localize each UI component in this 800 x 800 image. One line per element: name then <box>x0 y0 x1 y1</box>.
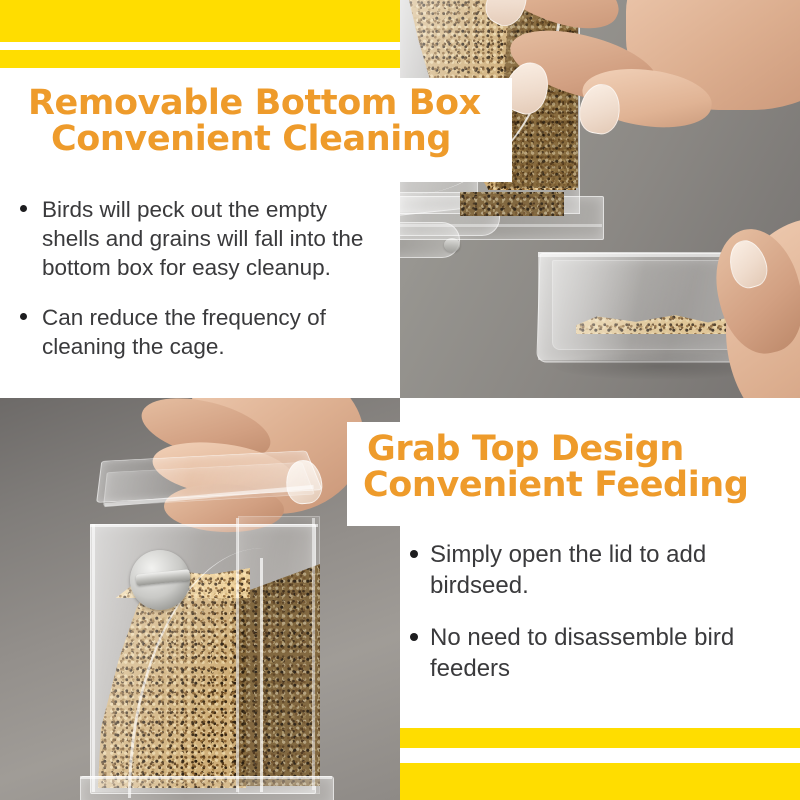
feeder-base-lip <box>400 224 602 227</box>
bottom-right-headline-box: Grab Top Design Convenient Feeding <box>347 422 800 526</box>
bottom-left-product-photo <box>0 398 400 800</box>
feeder-bottom-tray-rim <box>80 776 332 779</box>
bullet-text: Simply open the lid to add birdseed. <box>430 540 792 601</box>
bullet-text: No need to disassemble bird feeders <box>430 623 792 684</box>
list-item: Can reduce the frequency of cleaning the… <box>12 304 390 362</box>
bullet-text: Birds will peck out the empty shells and… <box>42 196 390 282</box>
bullet-dot-icon <box>20 313 27 320</box>
list-item: Birds will peck out the empty shells and… <box>12 196 390 282</box>
bottom-right-bullet-list: Simply open the lid to add birdseed. No … <box>408 540 792 707</box>
top-left-headline-box: Removable Bottom Box Convenient Cleaning <box>0 78 512 182</box>
feeder-body-gloss <box>90 524 314 792</box>
infographic-canvas: Removable Bottom Box Convenient Cleaning… <box>0 0 800 800</box>
bullet-dot-icon <box>20 205 27 212</box>
accent-bar-bottom-thick <box>400 763 800 800</box>
bullet-dot-icon <box>410 633 418 641</box>
feeder-clip-pin <box>444 238 460 252</box>
list-item: Simply open the lid to add birdseed. <box>408 540 792 601</box>
bottom-right-headline-line1: Grab Top Design <box>363 432 787 468</box>
feeder-bottom-tray <box>80 776 334 800</box>
bottom-right-headline-line2: Convenient Feeding <box>363 468 787 504</box>
accent-bar-top-thin <box>0 50 400 68</box>
top-left-headline-line1: Removable Bottom Box <box>26 86 486 122</box>
bullet-dot-icon <box>410 550 418 558</box>
accent-bar-bottom-thin <box>400 728 800 748</box>
accent-bar-top-thick <box>0 0 400 42</box>
top-right-product-photo <box>400 0 800 398</box>
bullet-text: Can reduce the frequency of cleaning the… <box>42 304 390 362</box>
list-item: No need to disassemble bird feeders <box>408 623 792 684</box>
top-left-bullet-list: Birds will peck out the empty shells and… <box>12 196 390 384</box>
feeder-base-leftover-seed <box>460 192 564 216</box>
top-left-headline-line2: Convenient Cleaning <box>26 122 486 158</box>
